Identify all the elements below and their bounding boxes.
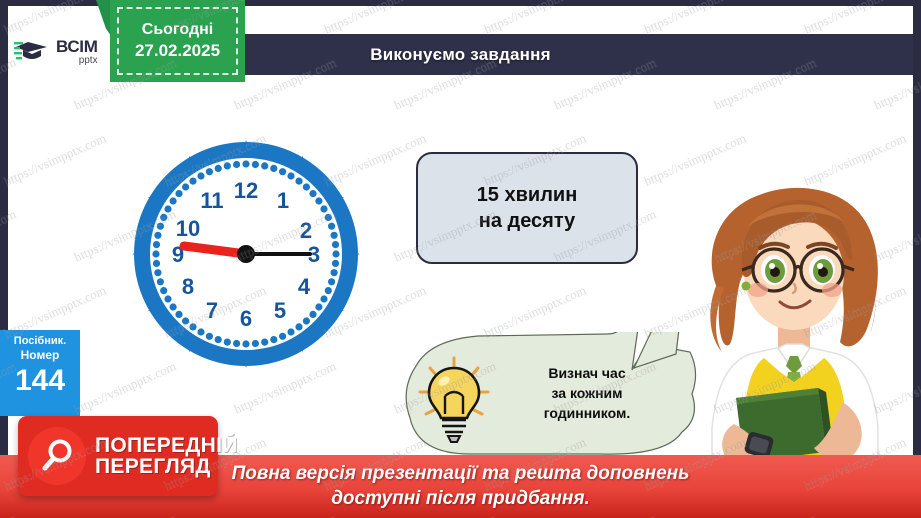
slide-root: Виконуємо завдання ВСІМ pptx Сьогодні 27…	[0, 0, 921, 518]
brand-logo[interactable]: ВСІМ pptx	[8, 28, 112, 76]
svg-text:11: 11	[200, 188, 223, 213]
bubble-line-1: Визнач час	[492, 364, 682, 384]
answer-line-2: на десяту	[479, 208, 576, 234]
badge-number: 144	[0, 365, 80, 397]
preview-button[interactable]: ПОПЕРЕДНІЙ ПЕРЕГЛЯД	[18, 416, 218, 496]
schoolgirl-illustration	[672, 166, 916, 462]
svg-text:5: 5	[274, 298, 286, 323]
svg-text:10: 10	[176, 216, 200, 241]
today-date: 27.02.2025	[135, 40, 220, 61]
svg-text:8: 8	[182, 274, 194, 299]
badge-label-line-2: Номер	[0, 348, 80, 364]
svg-text:6: 6	[240, 306, 252, 331]
answer-line-1: 15 хвилин	[477, 182, 578, 208]
svg-text:7: 7	[206, 298, 218, 323]
page-title: Виконуємо завдання	[370, 45, 550, 65]
banner-line-2: доступні після придбання.	[331, 487, 590, 511]
logo-sub-text: pptx	[56, 56, 98, 66]
lightbulb-icon	[414, 352, 494, 444]
svg-text:12: 12	[234, 178, 258, 203]
graduation-cap-icon	[14, 38, 54, 66]
speech-bubble: Визнач час за кожним годинником.	[400, 332, 710, 456]
today-date-badge: Сьогодні 27.02.2025	[110, 0, 245, 82]
preview-button-line-2: ПЕРЕГЛЯД	[95, 456, 238, 477]
badge-label-line-1: Посібник.	[0, 334, 80, 348]
svg-text:4: 4	[298, 274, 311, 299]
answer-text-box: 15 хвилин на десяту	[416, 152, 638, 264]
logo-main-text: ВСІМ	[56, 38, 98, 55]
preview-button-line-1: ПОПЕРЕДНІЙ	[95, 435, 238, 456]
exercise-number-badge: Посібник. Номер 144	[0, 330, 80, 416]
banner-line-1: Повна версія презентації та решта доповн…	[232, 462, 690, 486]
analog-clock: 12 1 2 3 4 5 6 7 8 9 10 11	[128, 136, 364, 372]
svg-text:1: 1	[277, 188, 289, 213]
svg-text:2: 2	[300, 218, 312, 243]
bubble-line-3: годинником.	[492, 404, 682, 424]
bubble-line-2: за кожним	[492, 384, 682, 404]
today-label: Сьогодні	[142, 20, 213, 40]
magnifier-icon	[28, 427, 86, 485]
speech-bubble-text: Визнач час за кожним годинником.	[492, 364, 682, 424]
